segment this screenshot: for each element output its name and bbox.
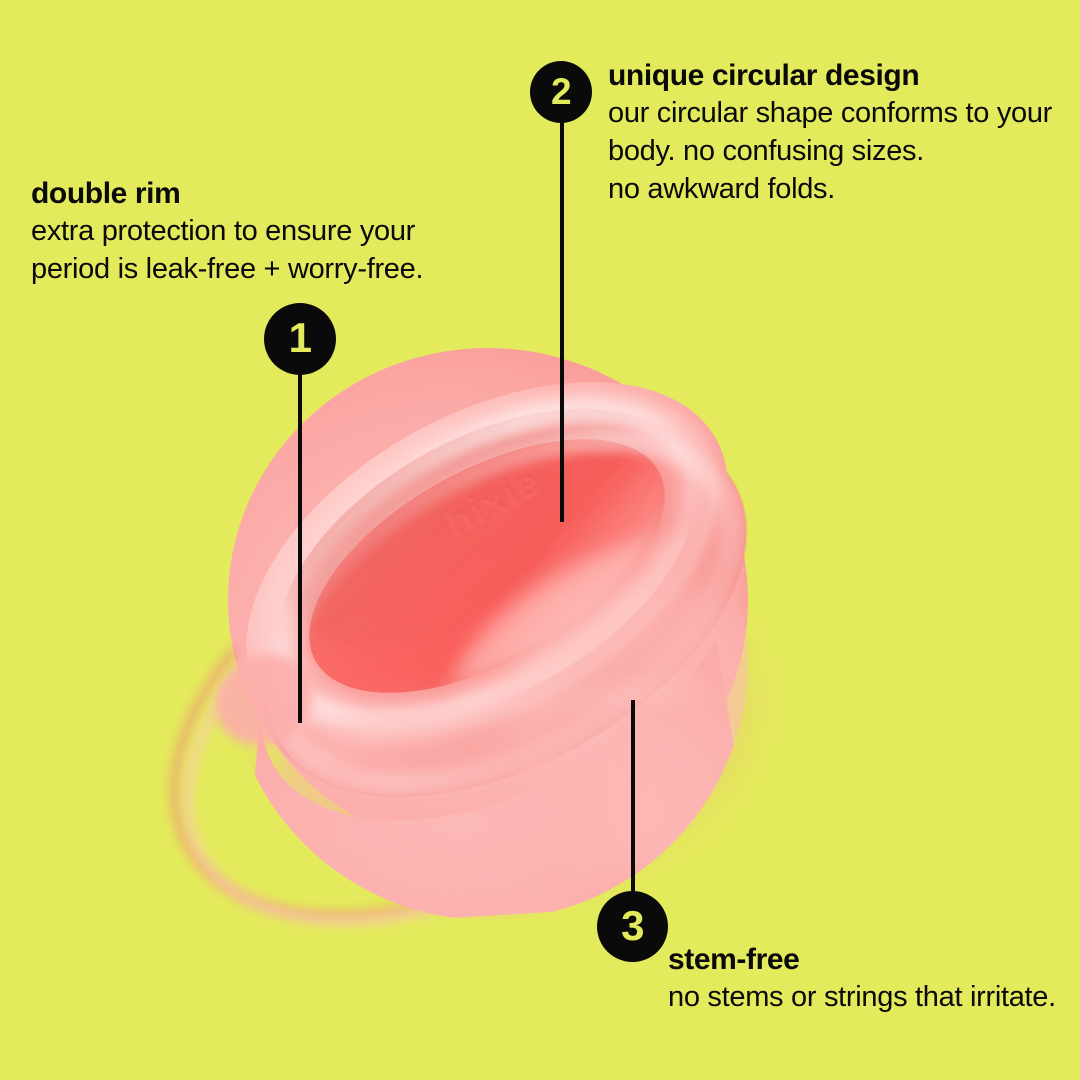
callout-2-text: unique circular design our circular shap…: [608, 58, 1078, 208]
callout-marker-2-number: 2: [551, 73, 571, 110]
cup-rim-groove: [174, 370, 788, 921]
callout-3-body: no stems or strings that irritate.: [668, 979, 1068, 1017]
leader-line-1: [298, 373, 302, 723]
callout-2-title: unique circular design: [608, 58, 1078, 93]
cup-lower-rim: [202, 352, 808, 872]
callout-marker-2[interactable]: 2: [530, 61, 592, 123]
product-infographic: hixie hixie: [0, 0, 1080, 1080]
callout-3-text: stem-free no stems or strings that irrit…: [668, 942, 1068, 1017]
cup-upper-rim: hixie hixie: [184, 306, 790, 826]
callout-1-body: extra protection to ensure your period i…: [31, 213, 461, 288]
callout-marker-1-number: 1: [289, 317, 312, 359]
callout-marker-3[interactable]: 3: [597, 891, 668, 962]
callout-3-title: stem-free: [668, 942, 1068, 977]
cup-body-lower: [240, 570, 780, 930]
callout-2-body: our circular shape conforms to your body…: [608, 95, 1078, 208]
leader-line-2: [560, 122, 564, 522]
callout-1-text: double rim extra protection to ensure yo…: [31, 176, 461, 289]
leader-line-3: [631, 700, 635, 896]
callout-marker-1[interactable]: 1: [264, 303, 336, 375]
cup-body: [228, 348, 748, 870]
callout-marker-3-number: 3: [621, 905, 644, 947]
svg-text:hixie: hixie: [439, 460, 549, 548]
callout-1-title: double rim: [31, 176, 461, 211]
embossed-brand-text: hixie: [439, 457, 549, 545]
